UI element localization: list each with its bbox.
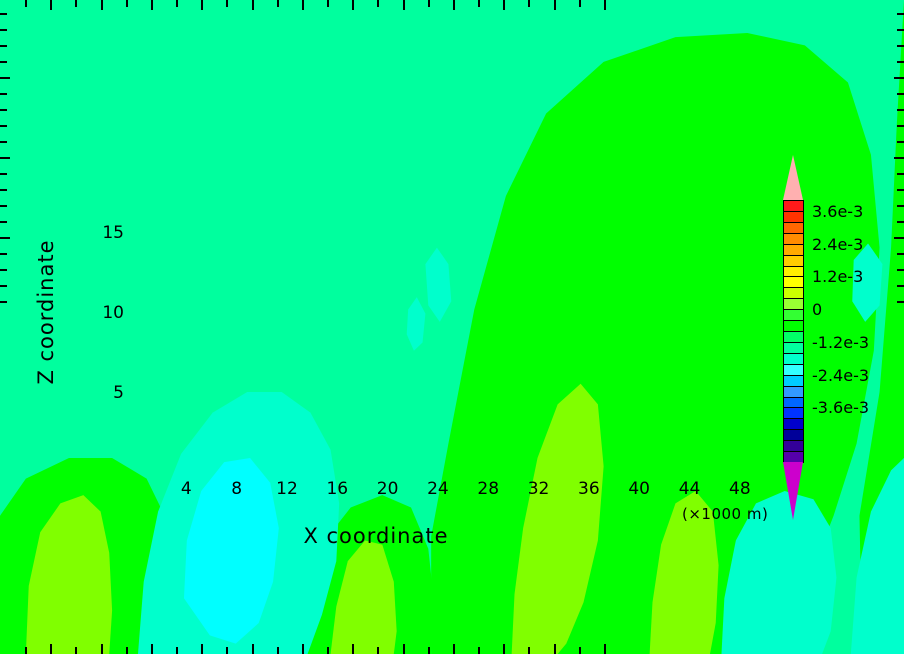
y-tick-minor (0, 205, 7, 207)
y-tick-minor (0, 29, 7, 31)
x-tick-top-minor (327, 0, 329, 7)
y-tick-label: 15 (84, 223, 124, 243)
colorbar-tick-label: 0 (812, 300, 822, 319)
x-axis-label: X coordinate (0, 524, 752, 548)
x-tick-label: 4 (166, 479, 206, 499)
x-tick-top-minor (528, 0, 530, 7)
contour-plot-area (0, 0, 629, 317)
y-tick-minor (0, 301, 7, 303)
y-tick-minor (0, 285, 7, 287)
x-tick-label: 48 (720, 479, 760, 499)
x-tick-label: 16 (317, 479, 357, 499)
x-tick-top-major (101, 0, 103, 10)
colorbar-cap-bottom-icon (783, 462, 803, 520)
x-tick-top-minor (75, 0, 77, 7)
y-tick-label: 5 (84, 383, 124, 403)
x-tick-top-major (50, 0, 52, 10)
y-tick-minor (0, 13, 7, 15)
y-tick-minor (0, 221, 7, 223)
y-tick-minor (0, 141, 7, 143)
colorbar-tick-label: 2.4e-3 (812, 235, 863, 254)
colorbar-tick-label: 3.6e-3 (812, 202, 863, 221)
colorbar-cap-top-icon (783, 155, 803, 200)
y-axis-label: Z coordinate (34, 212, 58, 412)
x-tick-top-minor (428, 0, 430, 7)
x-tick-top-minor (25, 0, 27, 7)
y-tick-major (0, 157, 10, 159)
y-tick-minor (0, 93, 7, 95)
y-tick-minor (0, 173, 7, 175)
x-tick-label: 12 (267, 479, 307, 499)
colorbar-tick-label: -3.6e-3 (812, 398, 869, 417)
y-tick-label: 10 (84, 303, 124, 323)
x-tick-label: 32 (519, 479, 559, 499)
x-tick-top-minor (478, 0, 480, 7)
colorbar[interactable] (783, 200, 804, 462)
y-tick-minor (0, 109, 7, 111)
x-tick-label: 8 (217, 479, 257, 499)
x-tick-top-major (453, 0, 455, 10)
x-tick-top-major (604, 0, 606, 10)
y-tick-minor (0, 269, 7, 271)
x-tick-top-major (151, 0, 153, 10)
y-tick-minor (0, 125, 7, 127)
colorbar-tick-label: -2.4e-3 (812, 366, 869, 385)
x-tick-top-minor (579, 0, 581, 7)
x-tick-label: 40 (619, 479, 659, 499)
y-tick-minor (0, 189, 7, 191)
x-tick-top-minor (377, 0, 379, 7)
y-tick-major (0, 237, 10, 239)
contour-field (0, 0, 629, 317)
x-tick-top-major (503, 0, 505, 10)
x-tick-label: 24 (418, 479, 458, 499)
colorbar-tick-label: 1.2e-3 (812, 267, 863, 286)
x-tick-top-minor (176, 0, 178, 7)
x-tick-top-minor (277, 0, 279, 7)
y-tick-minor (0, 61, 7, 63)
x-tick-label: 44 (670, 479, 710, 499)
x-tick-top-major (302, 0, 304, 10)
x-tick-top-major (201, 0, 203, 10)
x-tick-top-major (352, 0, 354, 10)
x-tick-top-major (252, 0, 254, 10)
y-tick-minor (0, 45, 7, 47)
y-tick-major (0, 77, 10, 79)
x-tick-label: 28 (468, 479, 508, 499)
y-tick-minor (0, 253, 7, 255)
x-axis-unit-label: (×1000 m) (682, 505, 768, 523)
x-tick-label: 36 (569, 479, 609, 499)
x-tick-top-major (554, 0, 556, 10)
x-tick-top-major (403, 0, 405, 10)
x-tick-label: 20 (368, 479, 408, 499)
colorbar-tick-label: -1.2e-3 (812, 333, 869, 352)
x-tick-top-minor (126, 0, 128, 7)
x-tick-top-minor (226, 0, 228, 7)
